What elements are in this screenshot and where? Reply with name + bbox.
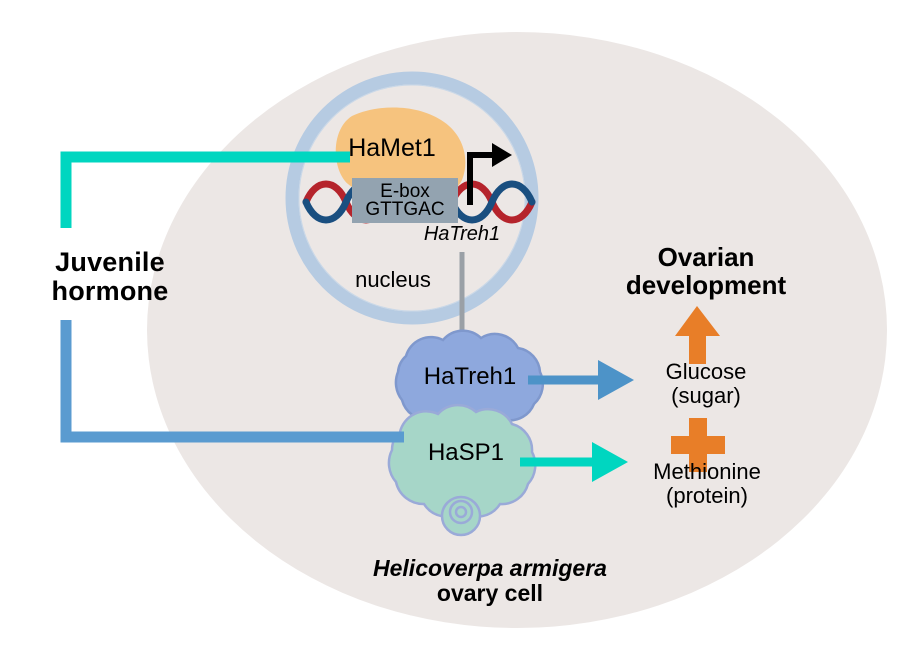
hatreh1-gene-label: HaTreh1 (402, 224, 522, 246)
ovary-cell-body (147, 32, 887, 628)
hasp1-protein-label: HaSP1 (415, 440, 517, 466)
nucleus-label: nucleus (338, 268, 448, 292)
glucose-label: Glucose(sugar) (630, 360, 782, 408)
ovarian-development-line2: development (626, 270, 786, 300)
species-name: Helicoverpa armigera (373, 555, 607, 581)
species-caption: Helicoverpa armigeraovary cell (330, 556, 650, 606)
methionine-line2: (protein) (666, 483, 748, 508)
juvenile-hormone-line1: Juvenile (55, 247, 165, 277)
figure-canvas: Juvenilehormone HaMet1 E-box GTTGAC HaTr… (0, 0, 917, 664)
methionine-label: Methionine(protein) (624, 460, 790, 508)
methionine-line1: Methionine (653, 459, 761, 484)
ebox-sequence-label: GTTGAC (353, 200, 457, 221)
hamet1-label: HaMet1 (330, 135, 454, 162)
species-celltype: ovary cell (437, 580, 543, 606)
juvenile-hormone-label: Juvenilehormone (10, 248, 210, 306)
ovarian-development-label: Ovariandevelopment (608, 243, 804, 299)
ovarian-development-line1: Ovarian (658, 242, 755, 272)
hatreh1-protein-label: HaTreh1 (409, 364, 531, 390)
juvenile-hormone-line2: hormone (52, 276, 169, 306)
glucose-line1: Glucose (666, 359, 747, 384)
glucose-line2: (sugar) (671, 383, 741, 408)
